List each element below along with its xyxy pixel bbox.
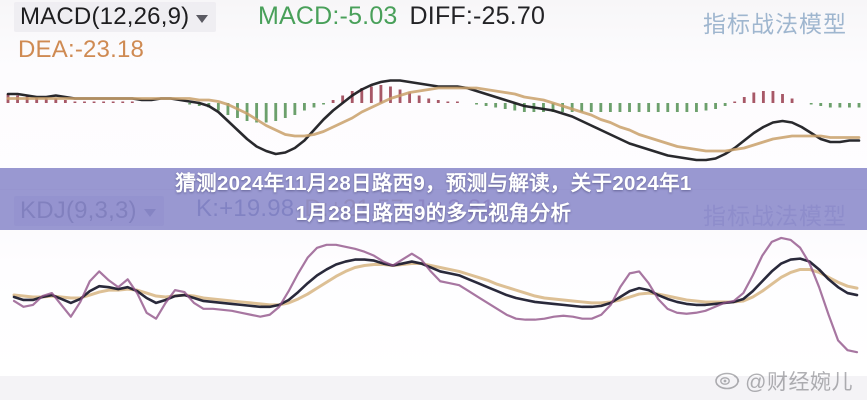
overlay-title-line1: 猜测2024年11月28日路西9，预测与解读，关于2024年1 (175, 169, 691, 199)
chart-screenshot: MACD(12,26,9) MACD:-5.03DIFF:-25.70 DEA:… (0, 0, 867, 400)
chevron-down-icon[interactable] (196, 15, 208, 23)
weibo-watermark: @财经婉儿 (715, 366, 853, 396)
dea-value: DEA:-23.18 (18, 36, 144, 64)
diff-value: DIFF:-25.70 (410, 2, 546, 30)
macd-indicator-selector[interactable]: MACD(12,26,9) (14, 2, 216, 32)
weibo-eye-icon (715, 371, 741, 391)
overlay-title-line2: 1月28日路西9的多元视角分析 (296, 199, 572, 229)
model-watermark-top: 指标战法模型 (703, 5, 847, 39)
macd-value: MACD:-5.03 (258, 2, 398, 30)
weibo-handle: @财经婉儿 (745, 366, 853, 396)
macd-readout: MACD:-5.03DIFF:-25.70 (258, 2, 545, 31)
overlay-title: 猜测2024年11月28日路西9，预测与解读，关于2024年1 1月28日路西9… (0, 166, 867, 232)
macd-indicator-label: MACD(12,26,9) (20, 3, 189, 31)
